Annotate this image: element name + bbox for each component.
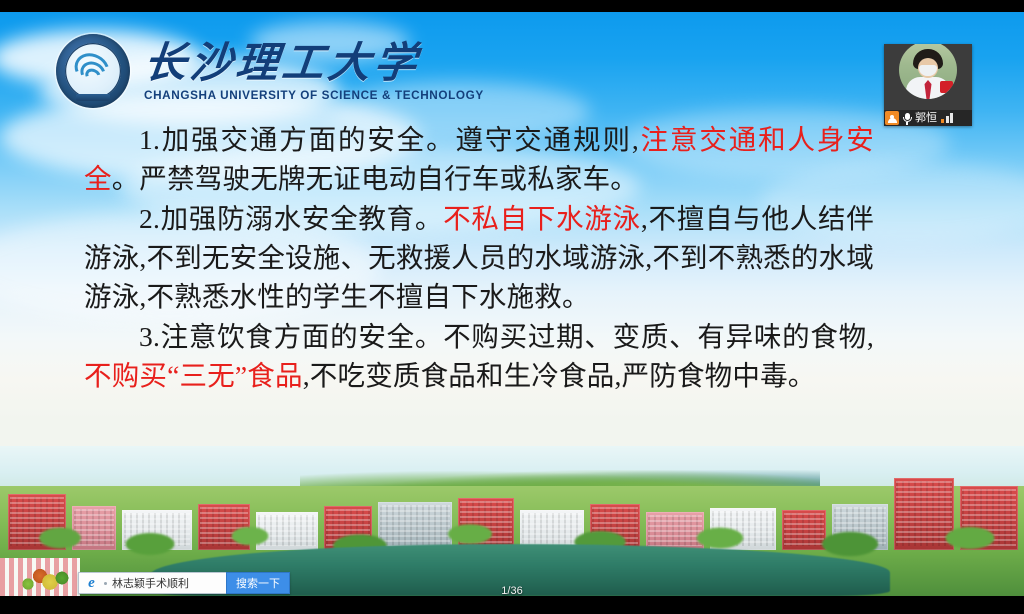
search-query-text: 林志颖手术顺利 xyxy=(112,575,189,591)
paragraph-2-run-2-highlight: 不私自下水游泳 xyxy=(443,203,641,234)
presentation-slide[interactable]: 长沙理工大学 CHANGSHA UNIVERSITY OF SCIENCE & … xyxy=(0,12,1024,596)
university-logo: 长沙理工大学 CHANGSHA UNIVERSITY OF SCIENCE & … xyxy=(56,34,477,108)
wallpaper-decoration xyxy=(0,558,80,596)
slide-paragraph-3: 3.注意饮食方面的安全。不购买过期、变质、有异味的食物,不购买“三无”食品,不吃… xyxy=(84,317,874,395)
letterbox-bar-bottom xyxy=(0,596,1024,614)
microphone-icon[interactable] xyxy=(901,111,913,125)
paragraph-3-run-1: 3.注意饮食方面的安全。不购买过期、变质、有异味的食物, xyxy=(139,321,874,352)
paragraph-1-run-1: 1.加强交通方面的安全。遵守交通规则, xyxy=(139,124,639,155)
university-wordmark: 长沙理工大学 CHANGSHA UNIVERSITY OF SCIENCE & … xyxy=(144,41,477,102)
internet-explorer-icon: e xyxy=(84,576,99,591)
letterbox-bar-top xyxy=(0,0,1024,12)
slide-paragraph-1: 1.加强交通方面的安全。遵守交通规则,注意交通和人身安全。严禁驾驶无牌无证电动自… xyxy=(84,120,874,198)
paragraph-1-run-3: 。严禁驾驶无牌无证电动自行车或私家车。 xyxy=(112,163,638,194)
signal-bars-icon xyxy=(941,113,953,123)
separator-dot-icon xyxy=(104,582,107,585)
university-name-english: CHANGSHA UNIVERSITY OF SCIENCE & TECHNOL… xyxy=(144,90,484,102)
presenter-person-icon xyxy=(885,111,899,125)
search-go-button[interactable]: 搜索一下 xyxy=(226,572,290,594)
slide-body-text: 1.加强交通方面的安全。遵守交通规则,注意交通和人身安全。严禁驾驶无牌无证电动自… xyxy=(84,120,874,396)
screen-capture: 长沙理工大学 CHANGSHA UNIVERSITY OF SCIENCE & … xyxy=(0,0,1024,614)
participant-name: 郭恒 xyxy=(915,113,937,124)
participant-video-thumbnail[interactable]: 郭恒 xyxy=(884,44,972,126)
paragraph-3-run-3: ,不吃变质食品和生冷食品,严防食物中毒。 xyxy=(303,360,816,391)
changsha-university-emblem-icon xyxy=(56,34,130,108)
paragraph-3-run-2-highlight: 不购买“三无”食品 xyxy=(84,360,303,391)
participant-status-strip: 郭恒 xyxy=(884,110,972,126)
search-widget[interactable]: e 林志颖手术顺利 搜索一下 xyxy=(78,572,290,594)
slide-paragraph-2: 2.加强防溺水安全教育。不私自下水游泳,不擅自与他人结伴游泳,不到无安全设施、无… xyxy=(84,199,874,316)
university-name-chinese: 长沙理工大学 xyxy=(142,43,480,85)
paragraph-2-run-1: 2.加强防溺水安全教育。 xyxy=(139,203,443,234)
avatar xyxy=(899,44,957,99)
search-input[interactable]: e 林志颖手术顺利 xyxy=(78,572,226,594)
